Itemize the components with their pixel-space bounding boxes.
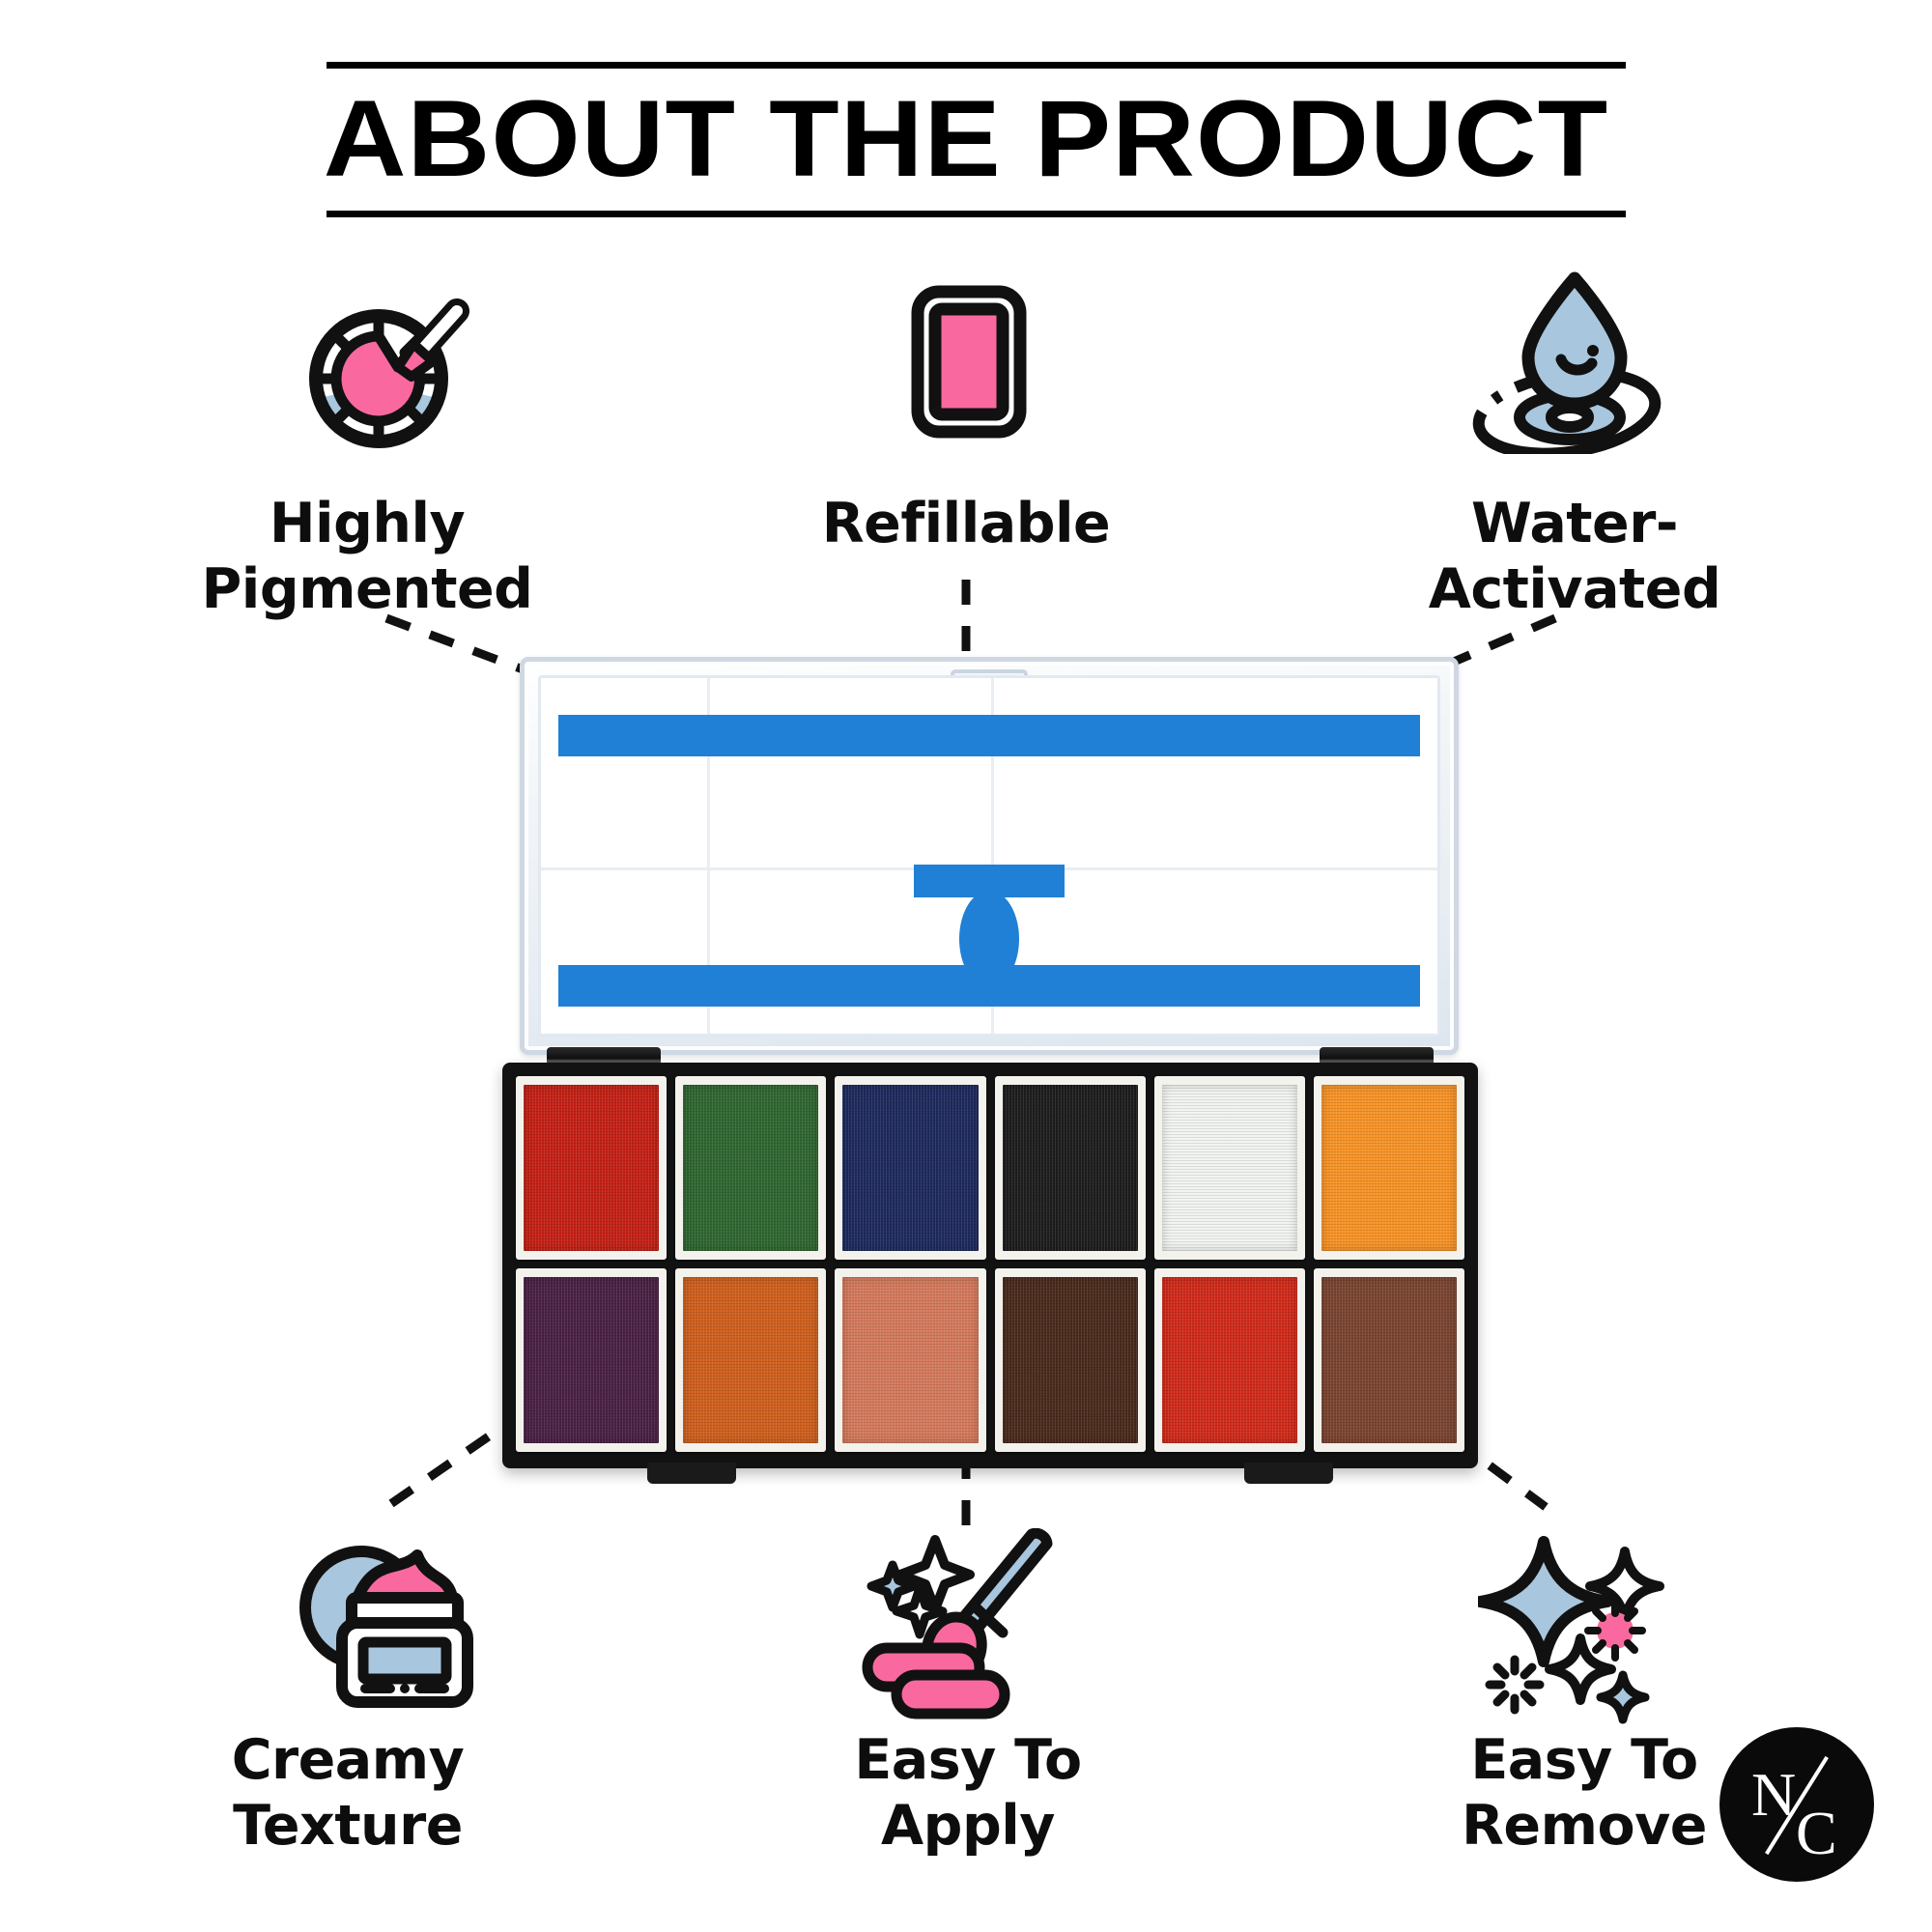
paint-pan-fill [683,1277,818,1443]
infographic-canvas: ABOUT THE PRODUCT [0,0,1932,1932]
color-wheel-brush-icon [298,282,481,456]
palette-base [502,1063,1478,1468]
paint-pan-crimson[interactable] [1154,1268,1305,1452]
lid-accent-bar-top [558,715,1420,756]
feature-label-highly-pigmented: Highly Pigmented [126,491,609,622]
feature-label-creamy-texture: Creamy Texture [106,1727,589,1859]
lid-accent-bar-bottom [558,965,1420,1007]
paint-pan-plum[interactable] [516,1268,667,1452]
sparkles-icon [1478,1536,1690,1729]
paint-pan-fill [1003,1277,1138,1443]
paint-pan-black[interactable] [995,1076,1146,1260]
paint-pan-fill [524,1277,659,1443]
paint-pan-fill [1321,1085,1457,1251]
base-tab-left [647,1463,736,1484]
feature-label-refillable: Refillable [724,491,1207,556]
product-palette-image [502,628,1478,1497]
cream-jar-icon [282,1538,485,1717]
paint-pan-fill [1162,1277,1297,1443]
paint-pan-burnt-orange[interactable] [675,1268,826,1452]
paint-pan-fill [1003,1085,1138,1251]
brand-logo: N C [1719,1727,1874,1882]
paint-pan-fill [842,1277,978,1443]
paint-pan-fill [524,1085,659,1251]
pan-row-top [516,1076,1464,1260]
paint-pan-fill [1162,1085,1297,1251]
feature-label-water-activated: Water- Activated [1333,491,1816,622]
paint-pan-fill [1321,1277,1457,1443]
refill-pan-icon [906,282,1032,441]
brand-letter-c: C [1796,1803,1837,1864]
paint-pan-navy[interactable] [835,1076,985,1260]
paint-pan-fill [683,1085,818,1251]
pan-row-bottom [516,1268,1464,1452]
paint-pan-orange[interactable] [1314,1076,1464,1260]
lid-insert [538,675,1440,1037]
brush-stroke-sparkle-icon [842,1528,1065,1721]
water-droplet-ripple-icon [1461,270,1673,454]
feature-label-easy-to-apply: Easy To Apply [726,1727,1209,1859]
paint-pan-terracotta[interactable] [835,1268,985,1452]
paint-pan-brown[interactable] [1314,1268,1464,1452]
base-tab-right [1244,1463,1333,1484]
palette-lid [520,657,1459,1055]
paint-pan-white[interactable] [1154,1076,1305,1260]
paint-pan-dark-brown[interactable] [995,1268,1146,1452]
paint-pan-red[interactable] [516,1076,667,1260]
paint-pan-fill [842,1085,978,1251]
paint-pan-green[interactable] [675,1076,826,1260]
